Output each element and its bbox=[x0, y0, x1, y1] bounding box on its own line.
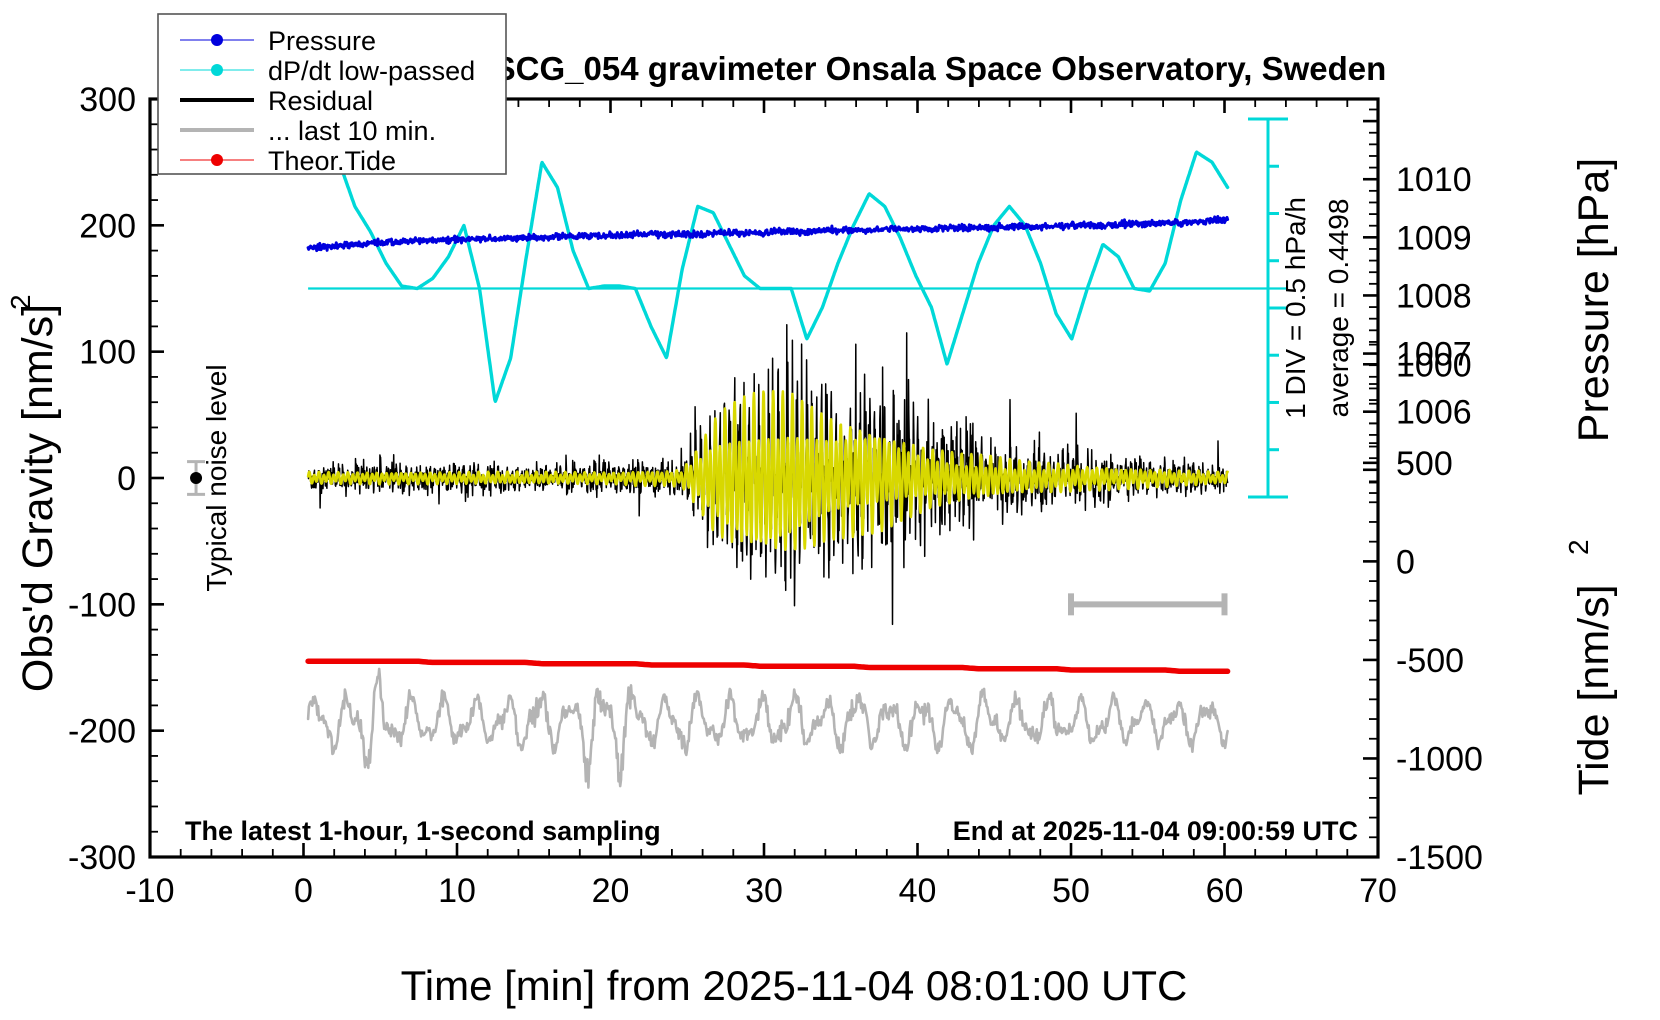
legend: PressuredP/dt low-passedResidual... last… bbox=[158, 14, 506, 176]
pressure-tick-label: 1010 bbox=[1396, 161, 1472, 199]
legend-swatch-marker bbox=[211, 64, 223, 76]
scale-bar bbox=[1071, 593, 1225, 615]
tide-tick-label: 1000 bbox=[1396, 346, 1472, 384]
x-axis-title-text: Time [min] from 2025-11-04 08:01:00 UTC bbox=[401, 962, 1188, 1009]
y-tick-label: -100 bbox=[68, 586, 136, 624]
footer-right-label: End at 2025-11-04 09:00:59 UTC bbox=[953, 816, 1358, 846]
y-axis-title-superscript: 2 bbox=[5, 294, 36, 310]
pressure-line bbox=[308, 217, 1228, 251]
legend-item-label: ... last 10 min. bbox=[268, 116, 436, 146]
legend-item-label: Residual bbox=[268, 86, 373, 116]
last-10min-line bbox=[308, 669, 1228, 788]
aux-axis-label-2-text: average = 0.4498 bbox=[1323, 199, 1354, 418]
tide-axis-title-superscript: 2 bbox=[1563, 539, 1594, 555]
pressure-tick-label: 1006 bbox=[1396, 394, 1472, 432]
figure-canvas: -10010203040506070Time [min] from 2025-1… bbox=[0, 0, 1660, 1020]
x-tick-label: 40 bbox=[899, 872, 937, 910]
tide-tick-label: 0 bbox=[1396, 543, 1415, 581]
x-tick-label: 70 bbox=[1359, 872, 1397, 910]
theoretical-tide-line bbox=[308, 661, 1228, 671]
legend-item-label: dP/dt low-passed bbox=[268, 56, 475, 86]
tide-tick-label: -500 bbox=[1396, 642, 1464, 680]
pressure-tick-label: 1009 bbox=[1396, 219, 1472, 257]
y-tick-label: -200 bbox=[68, 713, 136, 751]
x-tick-label: -10 bbox=[125, 872, 174, 910]
aux-dpdt-axis: 1 DIV = 0.5 hPa/haverage = 0.4498 bbox=[1248, 119, 1354, 497]
y-tick-label: 100 bbox=[79, 334, 136, 372]
y-axis-title-text: Obs'd Gravity [nm/s] bbox=[14, 304, 62, 692]
footer-left-label: The latest 1-hour, 1-second sampling bbox=[185, 816, 661, 846]
typical-noise-level-marker: Typical noise level bbox=[187, 364, 232, 591]
y-tick-label: 300 bbox=[79, 81, 136, 119]
tide-axis-title-text: Tide [nm/s] bbox=[1570, 584, 1618, 795]
legend-swatch-marker bbox=[211, 34, 223, 46]
legend-item-label: Theor.Tide bbox=[268, 146, 396, 176]
tide-tick-label: -1500 bbox=[1396, 839, 1483, 877]
x-tick-label: 10 bbox=[438, 872, 476, 910]
pressure-tick-label: 1008 bbox=[1396, 277, 1472, 315]
gravimeter-plot: -10010203040506070Time [min] from 2025-1… bbox=[0, 0, 1660, 1020]
legend-item-label: Pressure bbox=[268, 26, 376, 56]
tide-tick-label: 500 bbox=[1396, 445, 1453, 483]
x-tick-label: 0 bbox=[294, 872, 313, 910]
x-tick-label: 30 bbox=[745, 872, 783, 910]
x-tick-label: 60 bbox=[1206, 872, 1244, 910]
x-tick-label: 50 bbox=[1052, 872, 1090, 910]
pressure-axis-title-text: Pressure [hPa] bbox=[1570, 158, 1618, 442]
y-tick-label: -300 bbox=[68, 839, 136, 877]
legend-swatch-marker bbox=[211, 154, 223, 166]
chart-title-text: SCG_054 gravimeter Onsala Space Observat… bbox=[494, 50, 1387, 87]
tide-tick-label: -1000 bbox=[1396, 740, 1483, 778]
y-tick-label: 0 bbox=[117, 460, 136, 498]
x-tick-label: 20 bbox=[592, 872, 630, 910]
typical-noise-level-text: Typical noise level bbox=[201, 364, 232, 591]
y-tick-label: 200 bbox=[79, 207, 136, 245]
aux-axis-label-1-text: 1 DIV = 0.5 hPa/h bbox=[1280, 197, 1311, 419]
